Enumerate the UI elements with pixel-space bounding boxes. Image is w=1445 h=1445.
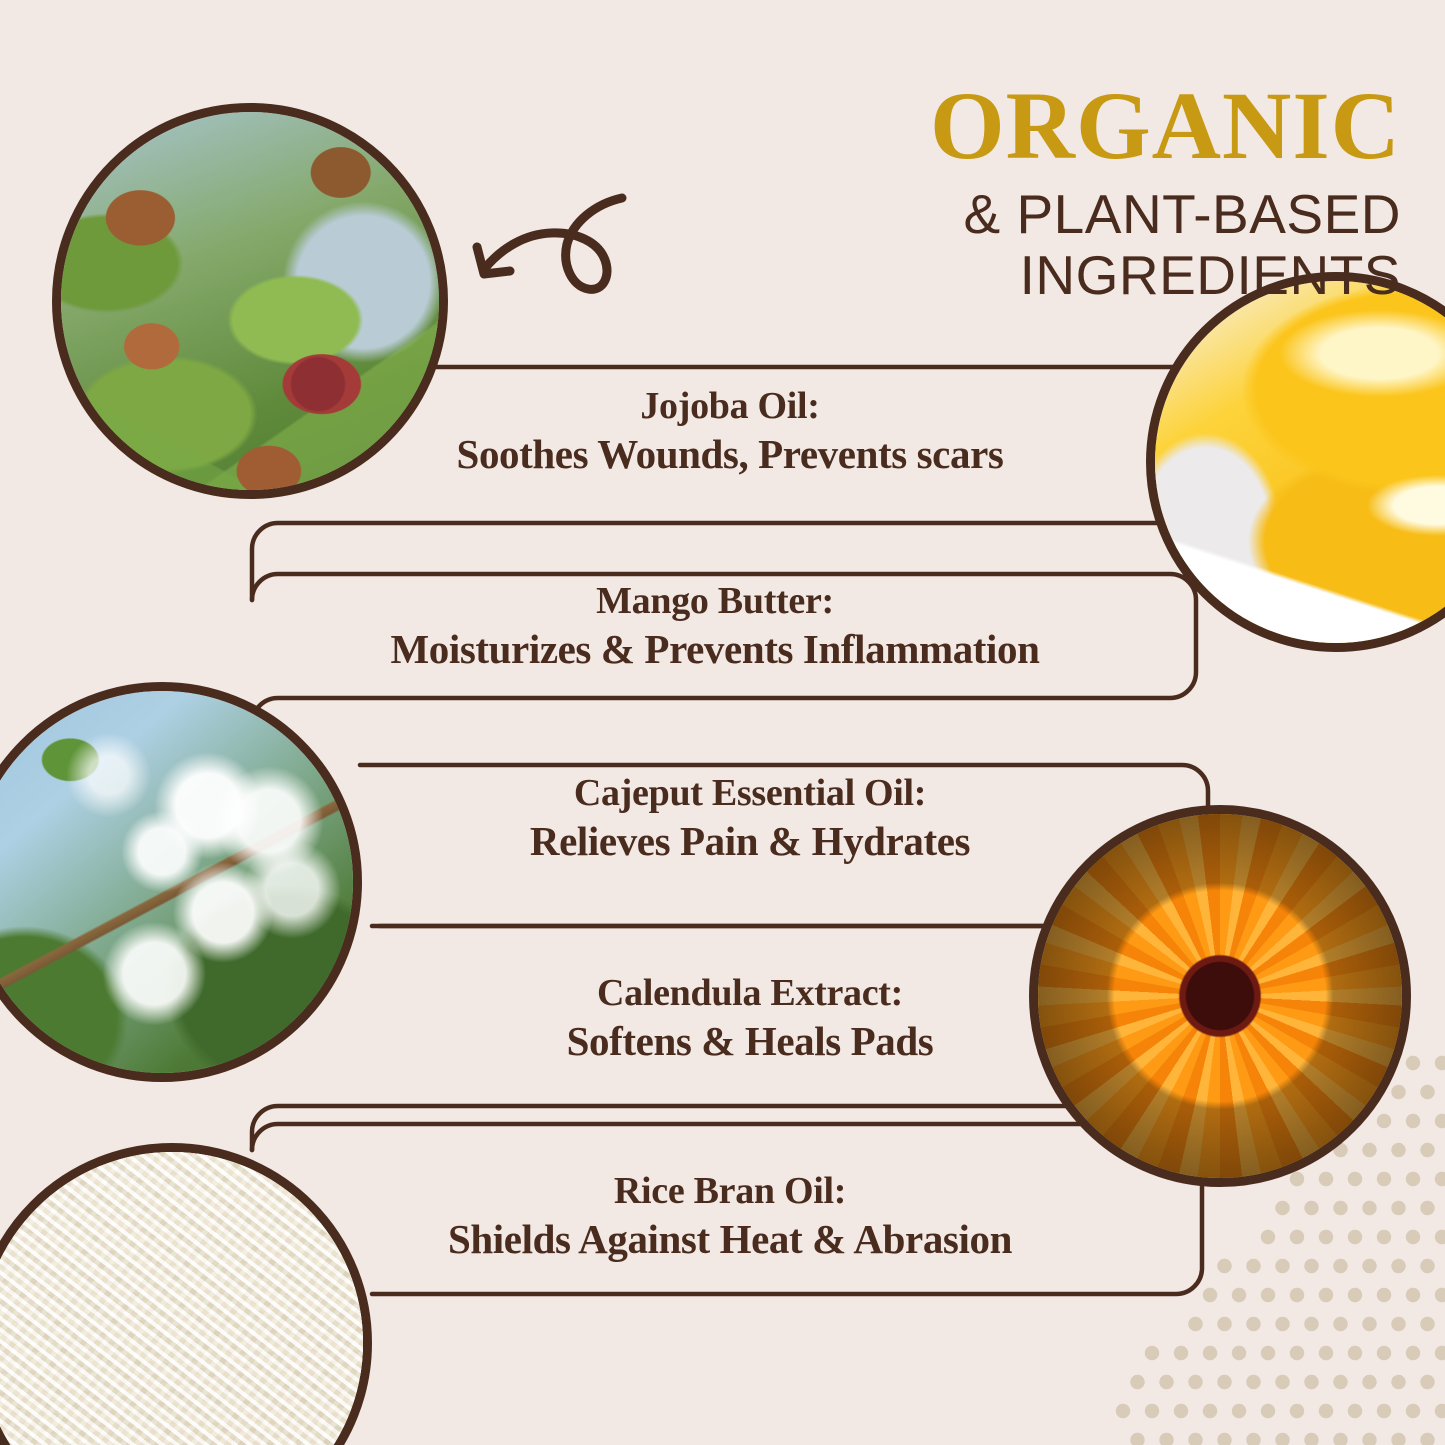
ingredient-photo-jojoba	[52, 103, 448, 499]
mango-butter-photo	[1155, 281, 1445, 643]
ingredient-benefit: Relieves Pain & Hydrates	[420, 819, 1080, 865]
ingredient-name: Jojoba Oil:	[400, 385, 1060, 428]
ingredient-photo-calendula	[1029, 805, 1411, 1187]
ingredient-photo-mango-butter	[1146, 272, 1445, 652]
ingredient-label-rice-bran: Rice Bran Oil: Shields Against Heat & Ab…	[370, 1170, 1090, 1262]
page-title: ORGANIC	[581, 78, 1401, 174]
ingredient-benefit: Soothes Wounds, Prevents scars	[400, 432, 1060, 478]
ingredient-benefit: Moisturizes & Prevents Inflammation	[330, 627, 1100, 673]
cajeput-flower-photo	[0, 691, 353, 1073]
headline-block: ORGANIC & PLANT-BASED INGREDIENTS	[581, 78, 1401, 305]
ingredient-label-calendula: Calendula Extract: Softens & Heals Pads	[420, 972, 1080, 1064]
calendula-flower-photo	[1038, 814, 1402, 1178]
ingredient-name: Cajeput Essential Oil:	[420, 772, 1080, 815]
rice-grain-photo	[0, 1152, 363, 1445]
ingredient-label-cajeput: Cajeput Essential Oil: Relieves Pain & H…	[420, 772, 1080, 864]
ingredient-benefit: Softens & Heals Pads	[420, 1019, 1080, 1065]
page-subtitle: & PLANT-BASED INGREDIENTS	[581, 184, 1401, 305]
infographic-canvas: ORGANIC & PLANT-BASED INGREDIENTS Jojoba…	[0, 0, 1445, 1445]
ingredient-photo-rice-bran	[0, 1143, 372, 1445]
ingredient-name: Mango Butter:	[330, 580, 1100, 623]
ingredient-label-jojoba: Jojoba Oil: Soothes Wounds, Prevents sca…	[400, 385, 1060, 477]
jojoba-fruit-photo	[61, 112, 439, 490]
ingredient-name: Calendula Extract:	[420, 972, 1080, 1015]
ingredient-photo-cajeput	[0, 682, 362, 1082]
ingredient-benefit: Shields Against Heat & Abrasion	[370, 1217, 1090, 1263]
ingredient-name: Rice Bran Oil:	[370, 1170, 1090, 1213]
ingredient-label-mango-butter: Mango Butter: Moisturizes & Prevents Inf…	[330, 580, 1100, 672]
